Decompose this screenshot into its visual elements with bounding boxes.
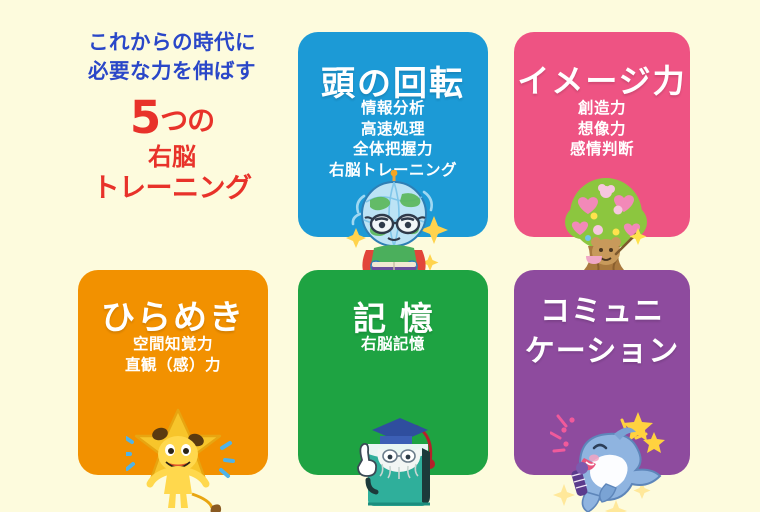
card-hirameki-sub-1: 直観（感）力 [78,355,268,376]
card-atama-sub-0: 情報分析 [298,98,488,119]
headline-line-1: これからの時代に [56,28,288,57]
card-kioku-subtitles: 右脳記憶 [298,334,488,355]
card-communication[interactable]: コミュニ ケーション [514,270,690,475]
card-image-ryoku[interactable]: イメージ力 創造力 想像力 感情判断 [514,32,690,237]
card-hirameki[interactable]: ひらめき 空間知覚力 直観（感）力 [78,270,268,475]
card-hirameki-sub-0: 空間知覚力 [78,334,268,355]
headline-line-2: 必要な力を伸ばす [56,57,288,86]
card-kioku-title: 記憶 [298,292,488,340]
card-atama-no-kaiten[interactable]: 頭の回転 情報分析 高速処理 全体把握力 右脳トレーニング [298,32,488,237]
heart-tree-character-icon [558,172,654,278]
card-communication-title-line-2: ケーション [514,332,690,372]
headline-block: これからの時代に 必要な力を伸ばす 5つの 右脳 トレーニング [56,28,288,205]
card-image-title: イメージ力 [514,56,690,102]
infographic-poster: これからの時代に 必要な力を伸ばす 5つの 右脳 トレーニング 頭の回転 情報分… [0,0,760,512]
headline-count-line: 5つの [56,95,288,140]
card-image-sub-2: 感情判断 [514,139,690,160]
card-communication-title-line-1: コミュニ [514,292,690,332]
card-kioku[interactable]: 記憶 右脳記憶 [298,270,488,475]
card-hirameki-title: ひらめき [78,290,268,339]
card-image-sub-0: 創造力 [514,98,690,119]
star-lion-character-icon [126,406,236,512]
card-atama-sub-2: 全体把握力 [298,139,488,160]
card-image-subtitles: 創造力 想像力 感情判断 [514,98,690,160]
card-kioku-sub-0: 右脳記憶 [298,334,488,355]
headline-red-line-3: トレーニング [56,172,288,205]
card-atama-sub-1: 高速処理 [298,119,488,140]
card-image-sub-1: 想像力 [514,119,690,140]
globe-scholar-character-icon [344,170,448,280]
card-hirameki-subtitles: 空間知覚力 直観（感）力 [78,334,268,375]
headline-number: 5 [130,91,160,144]
card-atama-subtitles: 情報分析 高速処理 全体把握力 右脳トレーニング [298,98,488,180]
card-communication-title: コミュニ ケーション [514,292,690,372]
book-professor-character-icon [342,408,452,512]
headline-number-suffix: つの [160,104,214,137]
headline-red-line-2: 右脳 [56,142,288,172]
singing-dolphin-character-icon [550,404,666,512]
